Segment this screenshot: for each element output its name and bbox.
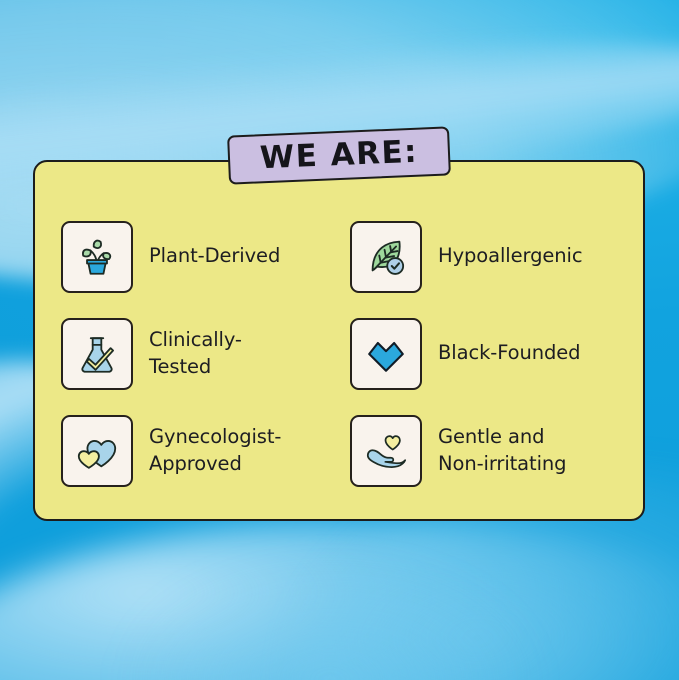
two-hearts-icon: [61, 415, 133, 487]
features-grid: Plant-Derived: [33, 160, 645, 521]
feature-label: Clinically- Tested: [149, 327, 242, 379]
feature-clinically-tested: Clinically- Tested: [61, 305, 350, 402]
feature-black-founded: Black-Founded: [350, 305, 639, 402]
feature-label: Hypoallergenic: [438, 243, 582, 269]
promo-graphic: WE ARE: Plant-Derived: [0, 0, 679, 680]
feature-hypoallergenic: Hypoallergenic: [350, 208, 639, 305]
leaf-check-icon: [350, 221, 422, 293]
flask-check-icon: [61, 318, 133, 390]
feature-label: Plant-Derived: [149, 243, 280, 269]
feature-gentle-non-irritating: Gentle and Non-irritating: [350, 402, 639, 499]
feature-gynecologist-approved: Gynecologist- Approved: [61, 402, 350, 499]
feature-label: Gentle and Non-irritating: [438, 424, 566, 476]
we-are-banner: WE ARE:: [227, 126, 451, 184]
feature-plant-derived: Plant-Derived: [61, 208, 350, 305]
potted-plant-icon: [61, 221, 133, 293]
feature-label: Black-Founded: [438, 340, 580, 366]
feature-label: Gynecologist- Approved: [149, 424, 281, 476]
hand-heart-icon: [350, 415, 422, 487]
banner-title: WE ARE:: [259, 137, 418, 175]
heart-icon: [350, 318, 422, 390]
